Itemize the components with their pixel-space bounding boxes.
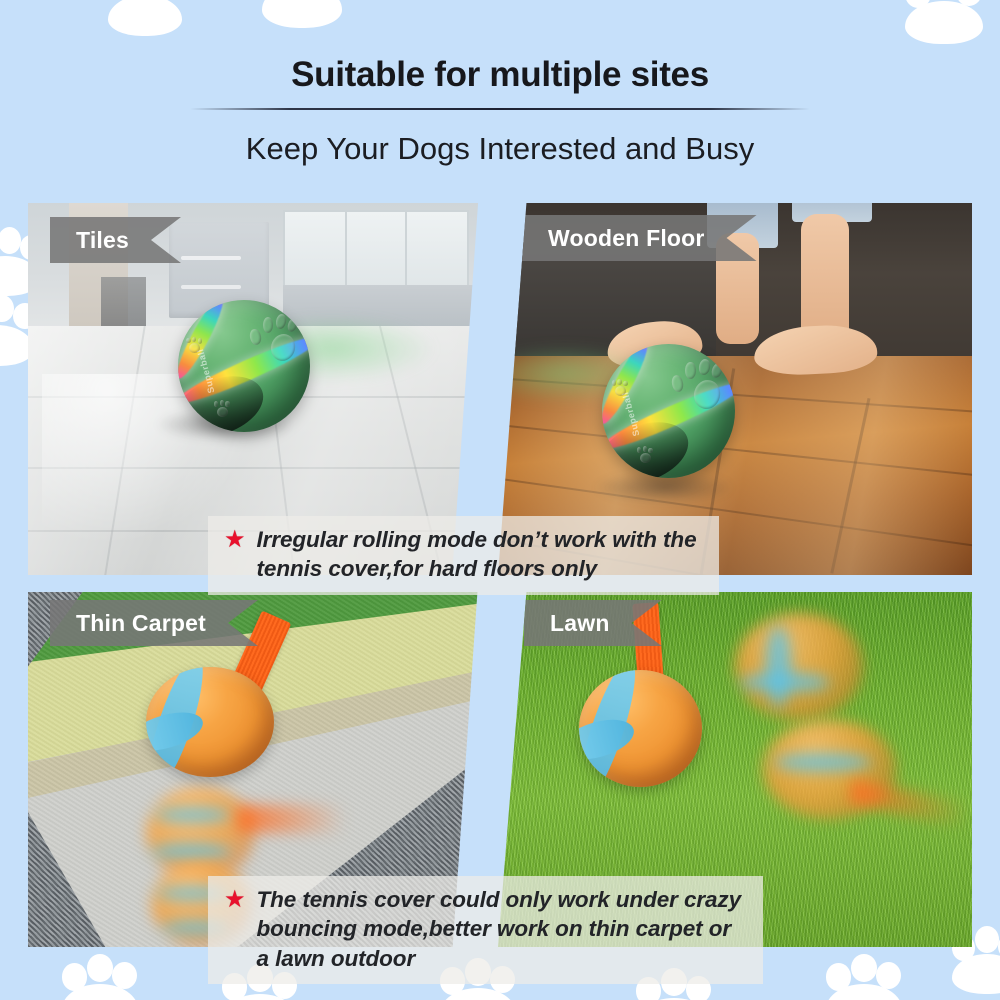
product-ball-orange	[579, 670, 702, 787]
page-title: Suitable for multiple sites	[0, 56, 1000, 95]
star-bullet-icon: ★	[224, 527, 246, 552]
label-wooden-floor-text: Wooden Floor	[548, 225, 705, 252]
star-bullet-icon: ★	[224, 887, 246, 912]
paw-print-decor	[826, 958, 902, 1000]
paw-emblem-icon	[247, 313, 300, 366]
header: Suitable for multiple sites Keep Your Do…	[0, 0, 1000, 166]
product-ball-green: Superball	[602, 344, 735, 478]
caption-hard-floor: ★ Irregular rolling mode don’t work with…	[208, 516, 719, 595]
caption-hard-floor-text: Irregular rolling mode don’t work with t…	[257, 525, 697, 584]
paw-print-decor	[62, 958, 138, 1000]
page-subtitle: Keep Your Dogs Interested and Busy	[0, 132, 1000, 166]
label-tiles-text: Tiles	[76, 227, 129, 254]
paw-emblem-icon	[669, 358, 725, 414]
product-ball-orange	[146, 667, 273, 777]
motion-ghost-tail	[237, 805, 346, 833]
caption-tennis-cover: ★ The tennis cover could only work under…	[208, 876, 763, 984]
motion-ghost	[735, 613, 863, 720]
label-thin-carpet-text: Thin Carpet	[76, 610, 206, 637]
caption-tennis-cover-text: The tennis cover could only work under c…	[257, 885, 741, 973]
poster-canvas: Suitable for multiple sites Keep Your Do…	[0, 0, 1000, 1000]
product-ball-green: Superball	[178, 300, 310, 432]
title-divider	[190, 108, 810, 110]
label-lawn-text: Lawn	[550, 610, 610, 637]
